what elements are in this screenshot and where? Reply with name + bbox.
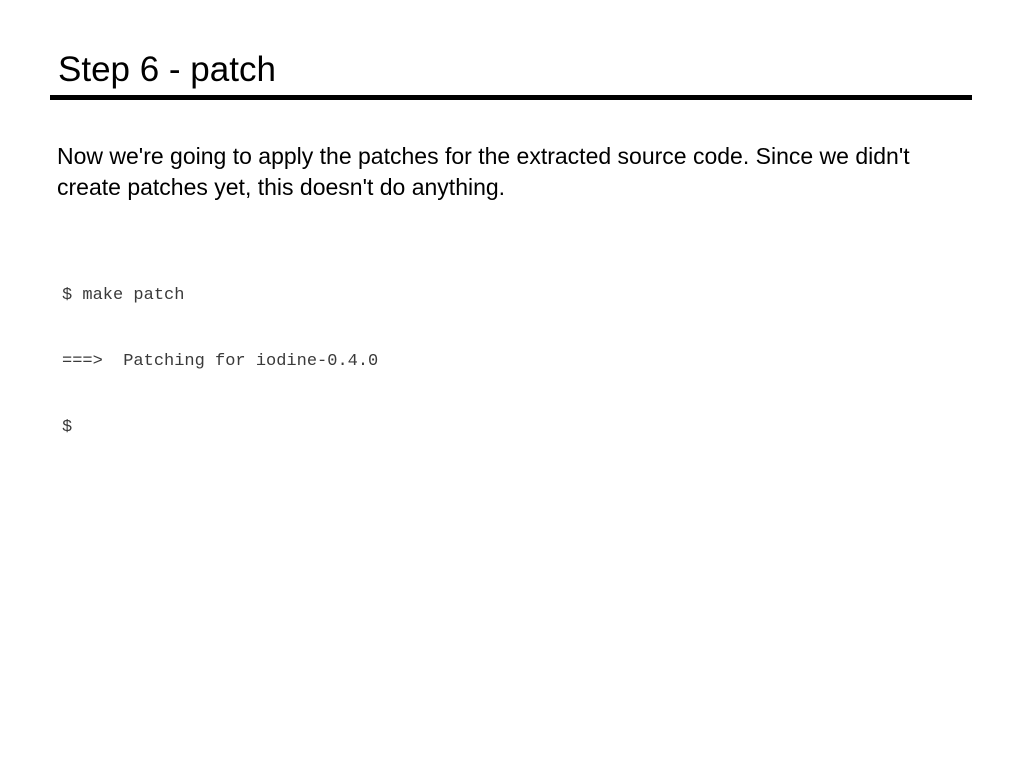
terminal-line-prompt: $ [62, 417, 378, 439]
slide: Step 6 - patch Now we're going to apply … [0, 0, 1024, 768]
title-divider [50, 95, 972, 100]
page-title: Step 6 - patch [58, 49, 276, 91]
terminal-line-output: ===> Patching for iodine-0.4.0 [62, 351, 378, 373]
terminal-line-command: $ make patch [62, 285, 378, 307]
body-paragraph: Now we're going to apply the patches for… [57, 141, 957, 203]
terminal-output-block: $ make patch ===> Patching for iodine-0.… [62, 241, 378, 483]
